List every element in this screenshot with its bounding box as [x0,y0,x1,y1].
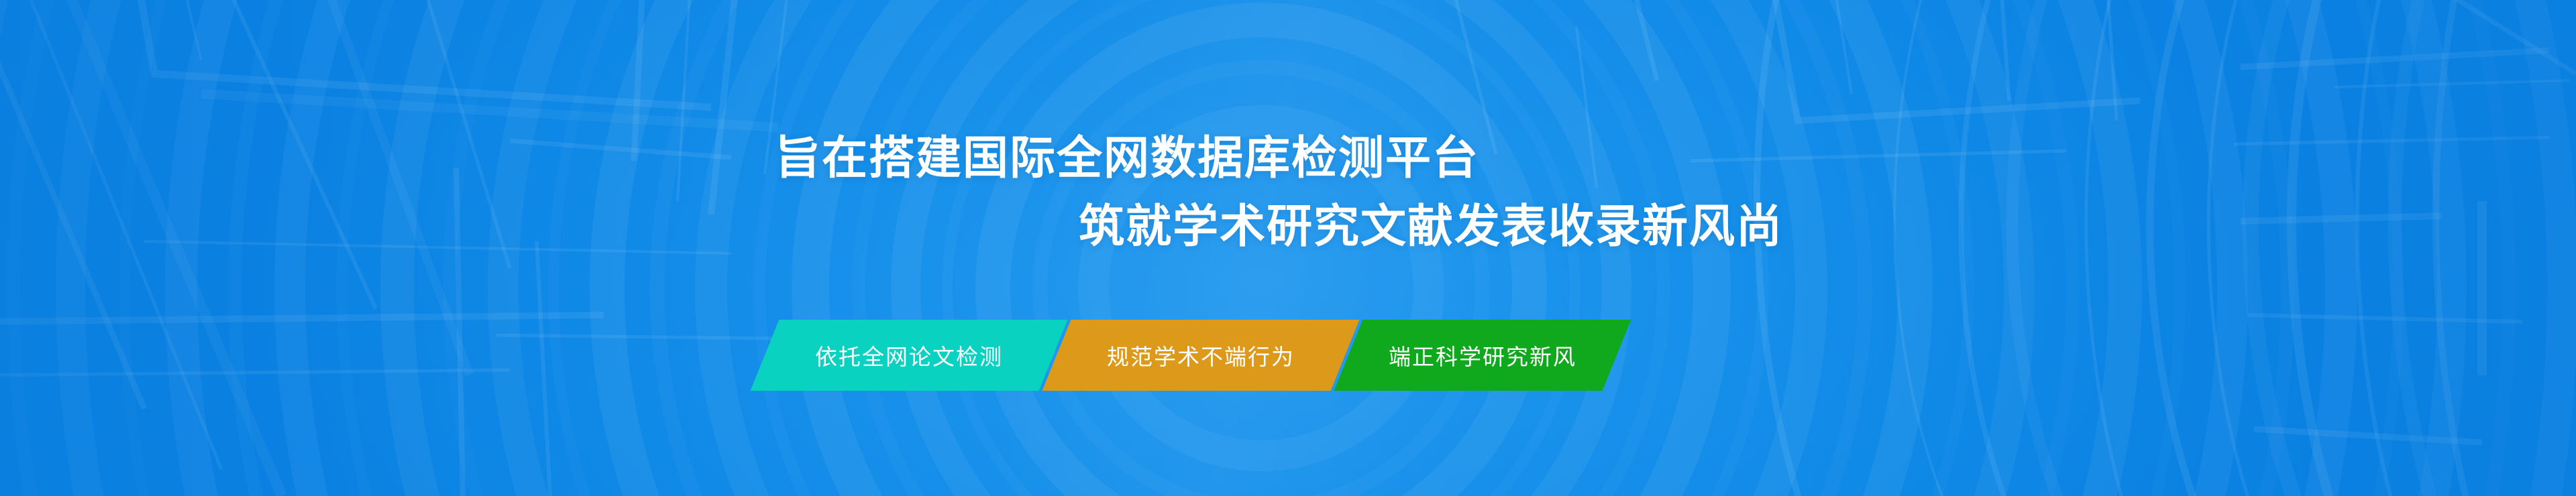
banner-content: 旨在搭建国际全网数据库检测平台 筑就学术研究文献发表收录新风尚 依托全网论文检测… [0,0,2576,496]
feature-tag-misconduct[interactable]: 规范学术不端行为 [1042,320,1360,391]
feature-tag-strip: 依托全网论文检测 规范学术不端行为 端正科学研究新风 [765,320,1617,391]
headline-line-2: 筑就学术研究文献发表收录新风尚 [1079,196,1783,257]
promo-banner: 旨在搭建国际全网数据库检测平台 筑就学术研究文献发表收录新风尚 依托全网论文检测… [0,0,2576,496]
feature-tag-integrity[interactable]: 端正科学研究新风 [1334,320,1631,391]
feature-tag-misconduct-label: 规范学术不端行为 [1084,339,1318,371]
headline-line-1: 旨在搭建国际全网数据库检测平台 [775,127,1479,189]
feature-tag-detection[interactable]: 依托全网论文检测 [751,320,1068,391]
feature-tag-integrity-label: 端正科学研究新风 [1366,339,1599,371]
feature-tag-detection-label: 依托全网论文检测 [792,339,1026,371]
